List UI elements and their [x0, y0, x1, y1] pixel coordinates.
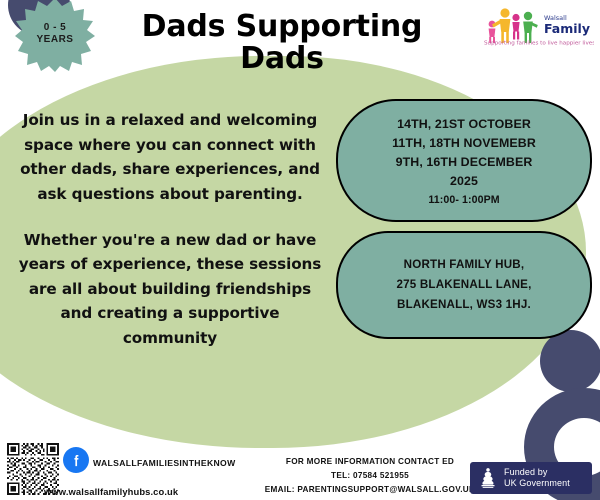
age-badge-line1: 0 - 5	[44, 22, 67, 35]
website-url[interactable]: www.walsallfamilyhubs.co.uk	[44, 486, 264, 497]
facebook-handle: WALSALLFAMILIESINTHEKNOW	[93, 458, 273, 468]
uk-government-funding-badge: Funded by UK Government	[470, 462, 592, 494]
dates-year: 2025	[450, 172, 478, 191]
session-time: 11:00- 1:00PM	[428, 194, 499, 206]
poster-title: Dads Supporting Dads	[96, 11, 468, 74]
contact-line-3: EMAIL: PARENTINGSUPPORT@WALSALL.GOV.UK	[248, 483, 492, 497]
gov-badge-text: Funded by UK Government	[504, 467, 570, 489]
age-range-badge: 0 - 5 YEARS	[14, 0, 96, 72]
family-hubs-logo-icon: Walsall Family Hubs Supporting families …	[482, 4, 594, 48]
poster-canvas: 0 - 5 YEARS Dads Supporting Dads	[0, 0, 600, 500]
age-badge-text: 0 - 5 YEARS	[14, 0, 96, 72]
contact-block: FOR MORE INFORMATION CONTACT ED TEL: 075…	[248, 455, 492, 497]
contact-line-1: FOR MORE INFORMATION CONTACT ED	[248, 455, 492, 469]
gov-badge-line-1: Funded by	[504, 467, 570, 478]
gov-badge-line-2: UK Government	[504, 478, 570, 489]
venue-pill: NORTH FAMILY HUB, 275 BLAKENALL LANE, BL…	[336, 231, 592, 339]
dates-line-2: 11TH, 18TH NOVEMEBR	[392, 134, 536, 153]
royal-crest-icon	[478, 467, 498, 489]
dates-line-1: 14TH, 21ST OCTOBER	[397, 115, 531, 134]
dates-line-3: 9TH, 16TH DECEMBER	[396, 153, 533, 172]
facebook-icon[interactable]	[63, 447, 89, 473]
svg-text:Family Hubs: Family Hubs	[544, 21, 594, 36]
body-paragraph-2: Whether you're a new dad or have years o…	[14, 228, 326, 351]
dates-pill: 14TH, 21ST OCTOBER 11TH, 18TH NOVEMEBR 9…	[336, 99, 592, 222]
venue-line-1: NORTH FAMILY HUB,	[404, 255, 525, 275]
walsall-family-hubs-logo: Walsall Family Hubs Supporting families …	[482, 4, 594, 48]
age-badge-line2: YEARS	[37, 34, 74, 47]
body-paragraph-1: Join us in a relaxed and welcoming space…	[14, 108, 326, 207]
body-copy: Join us in a relaxed and welcoming space…	[14, 108, 326, 351]
venue-line-3: BLAKENALL, WS3 1HJ.	[397, 295, 531, 315]
facebook-f-glyph-icon	[69, 453, 84, 468]
svg-text:Supporting families to live ha: Supporting families to live happier live…	[484, 41, 594, 47]
decorative-navy-dot-bottomright	[540, 330, 600, 392]
venue-line-2: 275 BLAKENALL LANE,	[397, 275, 532, 295]
contact-line-2: TEL: 07584 521955	[248, 469, 492, 483]
